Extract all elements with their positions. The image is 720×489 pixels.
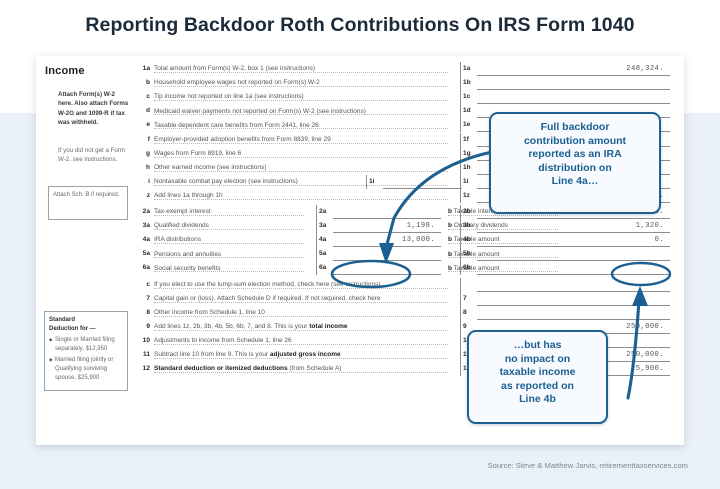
row-leader-dots [154, 315, 448, 317]
amount-cell-a: 3a1,198. [316, 219, 441, 233]
row-number: i [136, 178, 150, 185]
row-number: b [136, 79, 150, 86]
table-row: 8Other income from Schedule 1, line 108 [136, 306, 670, 320]
amount-cell: 1a248,324. [460, 62, 670, 76]
table-row: cIf you elect to use the lump-sum electi… [136, 278, 670, 292]
row-leader-dots [154, 156, 448, 158]
row-leader-dots [154, 228, 304, 230]
amount-cell-tag: 9 [463, 323, 467, 330]
amount-cell-a-tag: 5a [319, 250, 326, 257]
callout-line: Line 4a… [552, 175, 599, 187]
amount-cell-a: 6a [316, 261, 441, 275]
callout-line: contribution amount [524, 135, 626, 147]
row-number: 5a [136, 250, 150, 257]
sidebar-standard-deduction-box: Standard Deduction for — Single or Marri… [44, 311, 128, 391]
amount-cell-b-tag: 5b [463, 250, 471, 257]
row-leader-dots [154, 127, 448, 129]
amount-cell: 8 [460, 306, 670, 320]
table-row: 5aPensions and annuities5ab Taxable amou… [136, 247, 670, 261]
amount-cell-b-value: 0. [655, 236, 664, 244]
row-leader-dots [154, 71, 448, 73]
amount-cell-a-tag: 3a [319, 222, 326, 229]
callout-line: taxable income [500, 366, 576, 378]
row-leader-dots [154, 113, 448, 115]
row-number: 10 [136, 337, 150, 344]
line-1i-entry-box[interactable]: 1i [366, 175, 462, 189]
amount-cell-tag: 8 [463, 309, 467, 316]
row-number: c [136, 93, 150, 100]
amount-cell: 1b [460, 76, 670, 90]
amount-cell-tag: 1a [463, 65, 470, 72]
row-number: f [136, 136, 150, 143]
amount-cell-value: 250,000. [626, 323, 664, 331]
amount-cell-a-underline [333, 274, 441, 275]
row-leader-dots [154, 357, 448, 359]
row-leader-dots [154, 99, 448, 101]
table-row: bHousehold employee wages not reported o… [136, 76, 670, 90]
infographic-page: Reporting Backdoor Roth Contributions On… [0, 0, 720, 489]
callout-line: distribution on [538, 162, 612, 174]
row-leader-dots [154, 214, 304, 216]
amount-cell-b: 6b [460, 261, 670, 275]
amount-cell: 7 [460, 292, 670, 306]
callout-line-4a: Full backdoorcontribution amountreported… [489, 112, 661, 214]
amount-cell-tag: 1g [463, 150, 471, 157]
row-number: d [136, 107, 150, 114]
amount-cell-value: 250,000. [626, 351, 664, 359]
row-leader-dots [154, 371, 448, 373]
row-leader-dots [154, 85, 448, 87]
row-number: 8 [136, 309, 150, 316]
row-leader-dots [154, 329, 448, 331]
std-deduction-heading-1: Standard [49, 316, 123, 325]
amount-cell-value: 25,900. [631, 365, 664, 373]
amount-cell-tag: 1h [463, 164, 471, 171]
sidebar-schedule-b-text: Attach Sch. B if required. [53, 192, 119, 198]
row-number: h [136, 164, 150, 171]
sidebar-schedule-b-box: Attach Sch. B if required. [48, 186, 128, 220]
row-number: 12 [136, 365, 150, 372]
sidebar-attach-note: If you did not get a Form W-2, see instr… [58, 146, 130, 165]
amount-cell-a: 5a [316, 247, 441, 261]
amount-cell-value: 248,324. [626, 65, 664, 73]
callout-line-4b: …but hasno impact ontaxable incomeas rep… [467, 330, 608, 424]
amount-cell-b-underline [477, 274, 670, 275]
amount-cell-b-tag: 2b [463, 208, 471, 215]
source-credit: Source: Steve & Matthew Jarvis, retireme… [488, 461, 688, 470]
callout-line: Line 4b [519, 393, 556, 405]
table-row: cTip income not reported on line 1a (see… [136, 90, 670, 104]
table-row: 1aTotal amount from Form(s) W-2, box 1 (… [136, 62, 670, 76]
table-row: 6aSocial security benefits6ab Taxable am… [136, 261, 670, 275]
amount-cell: 1c [460, 90, 670, 104]
row-number: z [136, 192, 150, 199]
amount-cell-a-tag: 2a [319, 208, 326, 215]
callout-line: Full backdoor [541, 121, 610, 133]
row-number: 11 [136, 351, 150, 358]
sidebar-attach-note-bold: Attach Form(s) W-2 here. Also attach For… [58, 90, 130, 127]
amount-cell-tag: 1z [463, 192, 470, 199]
amount-cell-a: 2a [316, 205, 441, 219]
amount-cell-a-tag: 6a [319, 264, 326, 271]
amount-cell-a: 4a13,000. [316, 233, 441, 247]
row-leader-dots [154, 270, 304, 272]
std-deduction-bullet-2: Married filing jointly or Qualifying sur… [49, 356, 123, 382]
row-number: 7 [136, 295, 150, 302]
amount-cell-b-tag: 6b [463, 264, 471, 271]
row-leader-dots [154, 343, 448, 345]
amount-cell-b-tag: 4b [463, 236, 471, 243]
amount-cell-tag: 1b [463, 79, 471, 86]
row-number: g [136, 150, 150, 157]
line-1i-tag: 1i [369, 178, 375, 185]
row-leader-dots [154, 287, 448, 289]
amount-cell-a-value: 13,000. [402, 236, 435, 244]
row-number: 6a [136, 264, 150, 271]
amount-cell [460, 278, 670, 292]
table-row: 4aIRA distributions4a13,000.b Taxable am… [136, 233, 670, 247]
callout-line: no impact on [505, 353, 570, 365]
row-number: 1a [136, 65, 150, 72]
callout-line: …but has [514, 339, 562, 351]
row-leader-dots [154, 198, 448, 200]
amount-cell-tag: 7 [463, 295, 467, 302]
table-row: 3aQualified dividends3a1,198.b Ordinary … [136, 219, 670, 233]
amount-cell-b: 5b [460, 247, 670, 261]
row-number: e [136, 121, 150, 128]
amount-cell-a-value: 1,198. [407, 222, 435, 230]
callout-line: reported as an IRA [528, 148, 621, 160]
callout-line: as reported on [501, 380, 574, 392]
amount-cell-tag: 1c [463, 93, 470, 100]
amount-cell-b: 3b1,320. [460, 219, 670, 233]
amount-cell-tag: 1i [463, 178, 469, 185]
row-number: 2a [136, 208, 150, 215]
row-number: c [136, 281, 150, 288]
table-row: 7Capital gain or (loss). Attach Schedule… [136, 292, 670, 306]
amount-cell-tag: 1d [463, 107, 471, 114]
row-number: 3a [136, 222, 150, 229]
amount-cell-tag: 1e [463, 121, 470, 128]
row-leader-dots [154, 142, 448, 144]
page-title: Reporting Backdoor Roth Contributions On… [0, 14, 720, 37]
row-leader-dots [154, 170, 448, 172]
row-leader-dots [154, 301, 448, 303]
amount-cell-tag: 1f [463, 136, 469, 143]
std-deduction-heading-2: Deduction for — [49, 325, 123, 334]
row-number: 4a [136, 236, 150, 243]
row-leader-dots [154, 242, 304, 244]
amount-cell-b-tag: 3b [463, 222, 471, 229]
amount-cell-b-value: 1,320. [636, 222, 664, 230]
row-leader-dots [154, 256, 304, 258]
amount-cell-b: 4b0. [460, 233, 670, 247]
section-heading-income: Income [45, 65, 85, 77]
row-number: 9 [136, 323, 150, 330]
amount-cell-a-tag: 4a [319, 236, 326, 243]
std-deduction-bullet-1: Single or Married filing separately, $12… [49, 336, 123, 353]
